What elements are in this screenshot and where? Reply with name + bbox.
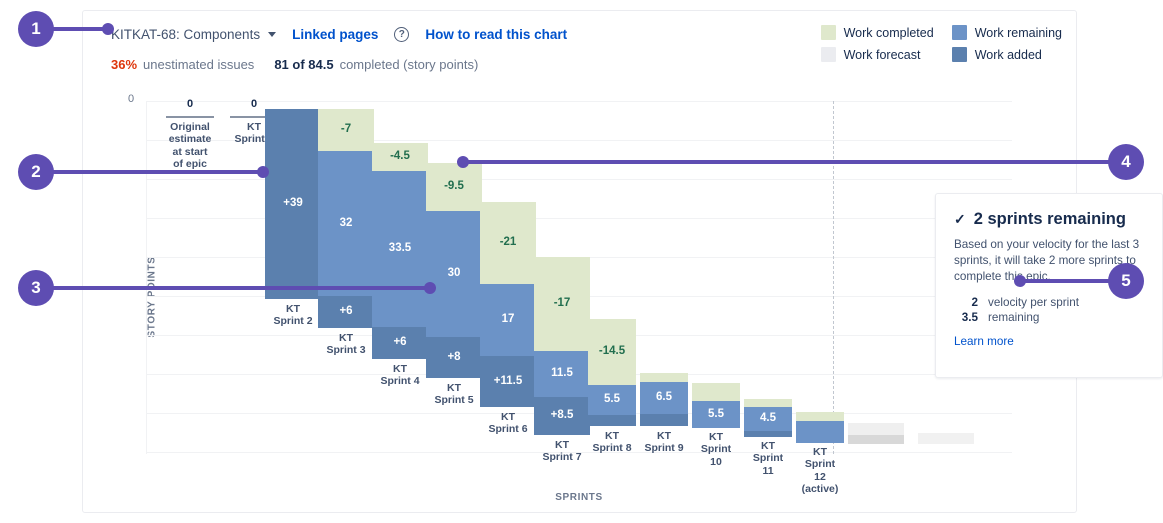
linked-pages-link[interactable]: Linked pages [292,27,378,42]
bar-segment-value: -14.5 [599,346,625,358]
bar-segment-value: 6.5 [656,392,672,404]
bar-column-original-estimate[interactable]: 0 Original estimate at start of epic [160,101,220,454]
bar-segment-value: +8.5 [551,410,574,422]
bar-segment-value: 32 [340,218,353,230]
bar-segment-work-added[interactable]: +8.5 [534,397,590,435]
callout-4-endpoint [457,156,469,168]
bar-segment-work-remaining[interactable]: 6.5 [640,382,688,414]
report-summary-row: 36% unestimated issues 81 of 84.5 comple… [111,57,478,72]
callout-2-leader [52,170,264,174]
bar-column-kt-sprint-3[interactable]: -7 32 +6 KT Sprint 3 [318,101,374,454]
callout-3: 3 [18,270,54,306]
bar-segment-value: 5.5 [604,394,620,406]
bar-segment-work-remaining[interactable]: 32 [318,151,374,296]
bar-column-kt-sprint-10[interactable]: 5.5 KT Sprint 10 [692,101,740,454]
legend-label-work-added: Work added [975,48,1042,62]
bar-column-kt-sprint-8[interactable]: -14.5 5.5 KT Sprint 8 [588,101,636,454]
callout-2: 2 [18,154,54,190]
column-caption: KT Sprint 7 [534,439,590,464]
column-caption: KT Sprint 5 [426,382,482,407]
help-icon[interactable]: ? [394,27,409,42]
bar-segment-value: +8 [447,352,460,364]
learn-more-link[interactable]: Learn more [954,335,1014,348]
epic-selector-label: KITKAT-68: Components [111,27,260,42]
bar-segment-value: 4.5 [760,413,776,425]
panel-stat-remaining: 3.5 remaining [954,311,1144,324]
unestimated-percent: 36% [111,57,137,72]
panel-title-row: ✓ 2 sprints remaining [954,210,1144,229]
bar-column-kt-sprint-7[interactable]: -17 11.5 +8.5 KT Sprint 7 [534,101,590,454]
legend-swatch-work-forecast [821,47,836,62]
callout-5-leader [1018,279,1110,283]
y-axis-tick-0: 0 [128,93,134,105]
panel-stat-value: 3.5 [954,311,978,324]
bar-segment-work-remaining[interactable]: 33.5 [372,171,428,327]
legend-swatch-work-added [952,47,967,62]
column-rule [166,116,214,118]
bar-segment-value: -9.5 [444,181,464,193]
bar-segment-value: 5.5 [708,409,724,421]
callout-2-endpoint [257,166,269,178]
bar-segment-value: 11.5 [551,368,573,380]
epic-selector-dropdown[interactable]: KITKAT-68: Components [111,27,276,42]
chart-legend: Work completed Work remaining Work forec… [821,25,1062,62]
column-caption: KT Sprint 11 [744,440,792,477]
x-axis-title: SPRINTS [146,492,1012,503]
column-caption: KT Sprint 10 [692,431,740,468]
bar-segment-value: 17 [502,314,515,326]
check-icon: ✓ [954,211,966,228]
bar-segment-work-forecast-shade [848,435,904,444]
bar-segment-work-added[interactable] [640,414,688,426]
unestimated-label: unestimated issues [143,57,254,72]
bar-segment-value: +6 [393,337,406,349]
chevron-down-icon [268,32,276,37]
legend-swatch-work-remaining [952,25,967,40]
callout-4: 4 [1108,144,1144,180]
panel-stat-value: 2 [954,296,978,309]
bar-segment-work-completed[interactable] [796,412,844,421]
legend-swatch-work-completed [821,25,836,40]
legend-label-work-completed: Work completed [844,26,934,40]
bar-segment-work-added[interactable] [744,431,792,437]
bar-segment-work-completed[interactable]: -14.5 [588,319,636,385]
legend-item-work-added: Work added [952,47,1062,62]
column-caption: KT Sprint 3 [318,332,374,357]
callout-5: 5 [1108,263,1144,299]
bar-column-kt-sprint-4[interactable]: -4.5 33.5 +6 KT Sprint 4 [372,101,428,454]
bar-segment-work-completed[interactable]: -4.5 [372,143,428,171]
column-caption: KT Sprint 12 (active) [796,446,844,496]
bar-segment-work-completed[interactable] [692,383,740,401]
bar-segment-work-forecast [848,423,904,435]
column-caption: Original estimate at start of epic [160,121,220,171]
legend-item-work-forecast: Work forecast [821,47,934,62]
report-header-row: KITKAT-68: Components Linked pages ? How… [111,27,567,42]
panel-stat-velocity: 2 velocity per sprint [954,296,1144,309]
panel-stat-label: velocity per sprint [988,296,1079,309]
callout-3-leader [52,286,430,290]
bar-segment-value: -4.5 [390,151,410,163]
callout-1-endpoint [102,23,114,35]
bar-column-kt-sprint-12-active[interactable]: KT Sprint 12 (active) [796,101,844,454]
bar-column-kt-sprint-5[interactable]: -9.5 30 +8 KT Sprint 5 [426,101,482,454]
callout-4-leader [462,160,1110,164]
bar-segment-work-forecast [918,433,974,444]
bar-segment-work-completed[interactable] [744,399,792,407]
bar-segment-work-remaining[interactable]: 4.5 [744,407,792,431]
column-caption: KT Sprint 8 [588,430,636,455]
bar-segment-value: +11.5 [494,376,522,388]
bar-segment-work-added[interactable] [588,415,636,426]
callout-1: 1 [18,11,54,47]
legend-label-work-remaining: Work remaining [975,26,1062,40]
bar-segment-work-remaining[interactable]: 17 [480,284,536,356]
column-caption: KT Sprint 4 [372,363,428,388]
callout-1-leader [52,27,108,31]
bar-segment-work-remaining[interactable]: 5.5 [588,385,636,415]
legend-item-work-completed: Work completed [821,25,934,40]
panel-stat-label: remaining [988,311,1039,324]
legend-label-work-forecast: Work forecast [844,48,921,62]
bar-segment-value: 33.5 [389,243,411,255]
y-axis-title: STORY POINTS [147,257,158,338]
bar-segment-work-added[interactable]: +39 [265,109,321,299]
bar-segment-work-completed[interactable]: -7 [318,109,374,151]
column-caption: KT Sprint 9 [640,430,688,455]
column-head-value: 0 [160,98,220,110]
completed-points-value: 81 of 84.5 [274,57,333,72]
bar-segment-value: +39 [283,198,303,210]
bar-segment-work-remaining[interactable]: 5.5 [692,401,740,428]
bar-column-kt-sprint-6[interactable]: -21 17 +11.5 KT Sprint 6 [480,101,536,454]
callout-5-endpoint [1014,275,1026,287]
bar-segment-work-completed[interactable]: -21 [480,202,536,284]
column-caption: KT Sprint 6 [480,411,536,436]
bar-segment-work-remaining[interactable] [796,421,844,443]
bar-segment-work-remaining[interactable]: 30 [426,211,482,337]
bar-segment-value: 30 [448,268,461,280]
bar-segment-work-added[interactable]: +6 [318,296,374,328]
epic-report-card: KITKAT-68: Components Linked pages ? How… [82,10,1077,513]
bar-segment-work-completed[interactable]: -17 [534,257,590,351]
column-caption: KT Sprint 2 [265,303,321,328]
bar-column-kt-sprint-9[interactable]: 6.5 KT Sprint 9 [640,101,688,454]
how-to-read-chart-link[interactable]: How to read this chart [425,27,567,42]
bar-column-forecast-1 [848,101,904,454]
bar-segment-value: +6 [339,306,352,318]
bar-segment-value: -21 [500,237,517,249]
bar-column-kt-sprint-2[interactable]: +39 KT Sprint 2 [265,101,321,454]
bar-segment-work-remaining[interactable]: 11.5 [534,351,590,397]
burndown-chart-plot: 0 STORY POINTS SPRINTS 0 Original estima… [146,101,1012,454]
bar-segment-work-completed[interactable]: -9.5 [426,163,482,211]
bar-segment-work-added[interactable]: +8 [426,337,482,378]
bar-segment-work-added[interactable]: +6 [372,327,428,359]
legend-item-work-remaining: Work remaining [952,25,1062,40]
callout-3-endpoint [424,282,436,294]
panel-title: 2 sprints remaining [974,210,1126,229]
bar-column-kt-sprint-11[interactable]: 4.5 KT Sprint 11 [744,101,792,454]
epic-burndown-screenshot: KITKAT-68: Components Linked pages ? How… [0,0,1163,523]
completed-points-label: completed (story points) [340,57,479,72]
bar-segment-work-completed[interactable] [640,373,688,382]
bar-segment-value: -17 [554,298,571,310]
bar-segment-value: -7 [341,124,351,136]
bar-segment-work-added[interactable]: +11.5 [480,356,536,407]
